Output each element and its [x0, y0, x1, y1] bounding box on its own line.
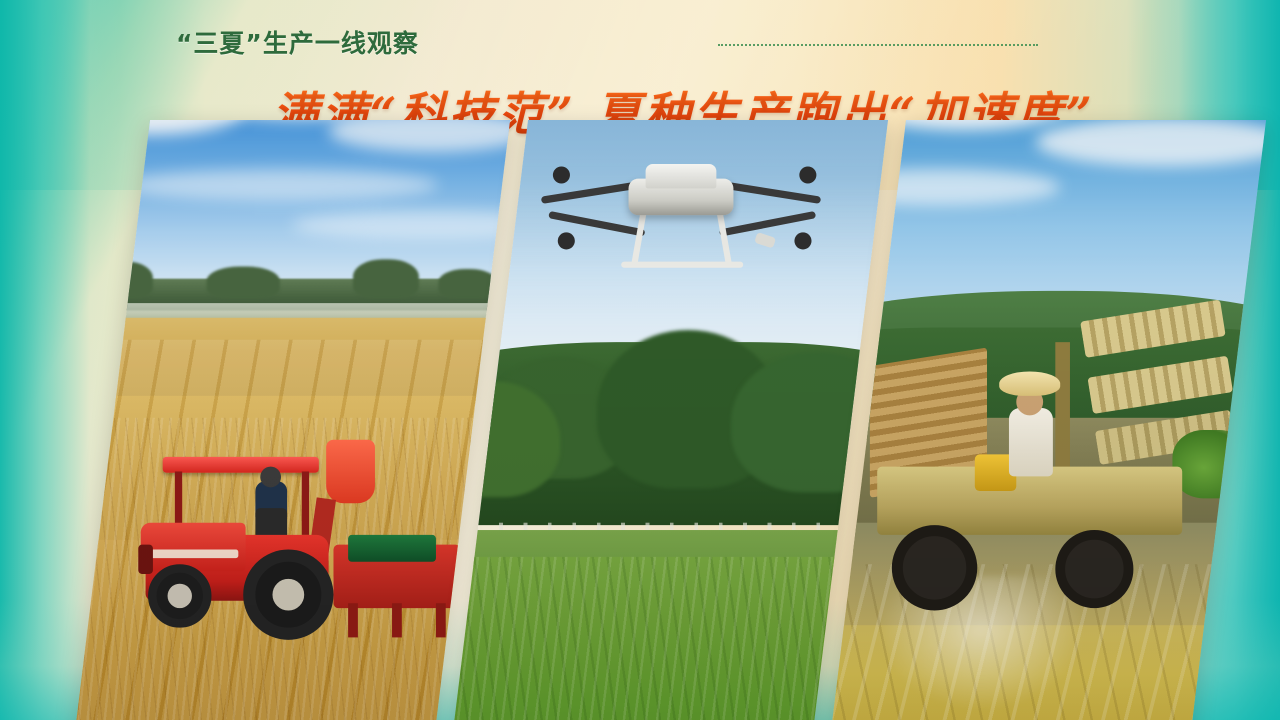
seeder-leg — [436, 603, 446, 637]
transplanter-deck — [877, 467, 1182, 535]
tractor-canopy — [163, 457, 319, 473]
straw-hat — [999, 371, 1060, 395]
drone-skid — [621, 262, 743, 268]
paddy-texture — [452, 557, 888, 720]
tractor-grille — [138, 545, 153, 574]
tree — [353, 259, 419, 298]
farmer-body — [1009, 408, 1053, 476]
tractor-seeder-photo — [74, 120, 510, 720]
agricultural-drone-photo — [452, 120, 888, 720]
tractor-driver-head — [260, 467, 281, 488]
drone-motor — [794, 232, 811, 249]
tree — [438, 269, 497, 298]
seeder-leg — [348, 603, 358, 637]
tractor-canopy-post — [302, 471, 309, 534]
tractor-seat — [255, 508, 287, 537]
transplanter-wheel — [892, 525, 977, 610]
transplanter-wheel — [1055, 530, 1133, 608]
kicker-text: “三夏”生产一线观察 — [176, 24, 419, 60]
poster-root: “三夏”生产一线观察 满满“科技范” 夏种生产跑出“加速度” — [0, 0, 1280, 720]
drone-motor — [553, 166, 570, 183]
tractor-front-hub — [168, 584, 192, 608]
drone-motor — [558, 232, 575, 249]
tractor-stripe — [148, 550, 238, 559]
rice-seedlings — [1172, 430, 1250, 498]
seeder-seed-box — [348, 535, 436, 562]
drone-spray-tank — [646, 164, 717, 188]
seeder-leg — [392, 603, 402, 637]
cloud — [121, 169, 438, 201]
rice-transplanter-photo — [830, 120, 1266, 720]
tree — [97, 262, 153, 299]
drone-motor — [799, 166, 816, 183]
photo-strip — [0, 150, 1280, 720]
tractor-hood — [141, 523, 246, 572]
seeder-hopper — [326, 440, 375, 503]
tractor-rear-hub — [272, 579, 304, 611]
kicker-divider — [718, 44, 1038, 46]
tree — [207, 267, 280, 299]
